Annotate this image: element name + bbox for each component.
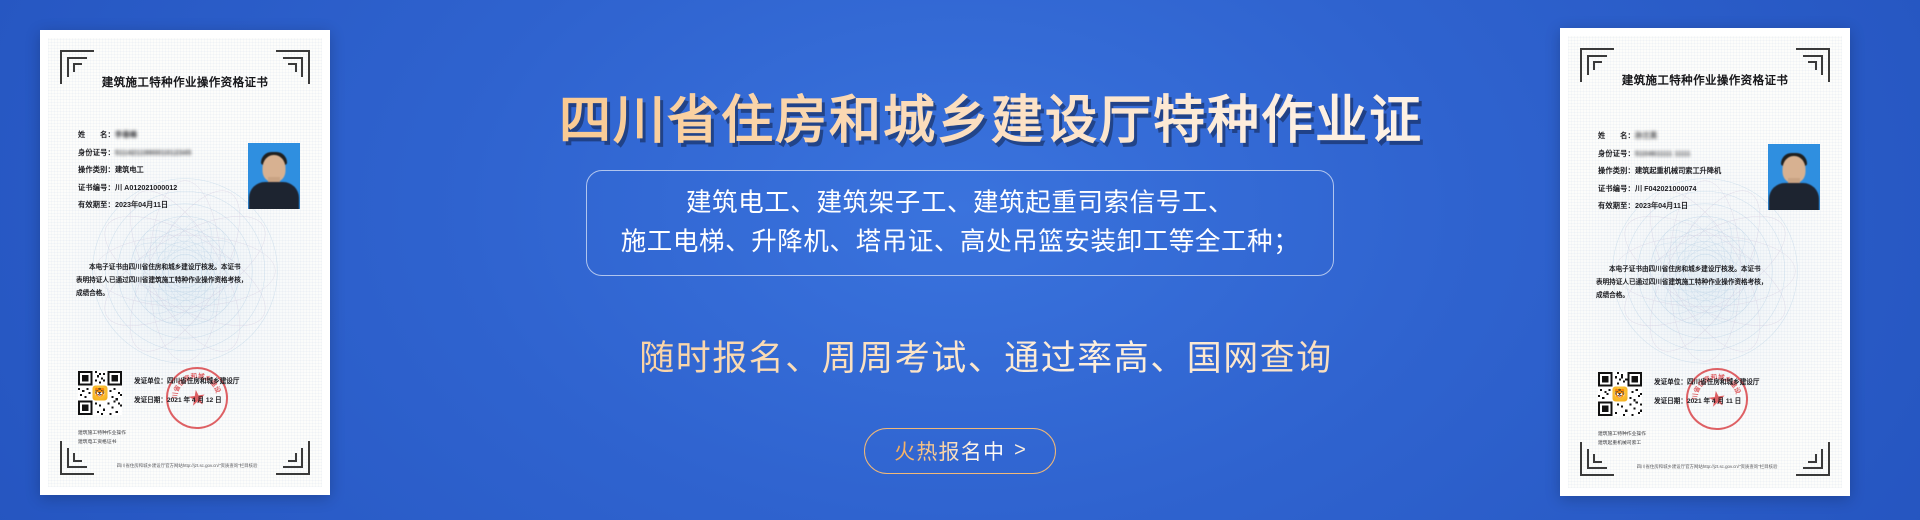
note-line-1: 建筑施工特种作业操作 (78, 429, 126, 438)
field-certificate-number: 证书编号：川 A012021000012 (78, 183, 258, 192)
field-operation-type-label: 操作类别： (78, 165, 115, 174)
field-valid-until: 有效期至：2023年04月11日 (1598, 201, 1778, 210)
qr-center-emoji-icon: 🐯 (1612, 386, 1629, 403)
certificate-title: 建筑施工特种作业操作资格证书 (1568, 72, 1842, 88)
body-paragraph-1: 本电子证书由四川省住房和城乡建设厅核发。本证书 (1596, 264, 1816, 277)
field-certificate-number-value: 川 F042021000074 (1635, 184, 1697, 193)
course-line-2: 施工电梯、升降机、塔吊证、高处吊篮安装卸工等全工种； (621, 227, 1300, 258)
certificate-body-text: 本电子证书由四川省住房和城乡建设厅核发。本证书 表明持证人已通过四川省建筑施工特… (1596, 264, 1816, 303)
issue-date-line: 发证日期：2021 年 4 月 12 日 (134, 394, 302, 404)
certificate-footer: 四川省住房和城乡建设厅官方网站http://jzt.sc.gov.cn/"资质查… (1591, 464, 1823, 470)
field-operation-type-value: 建筑电工 (115, 165, 144, 174)
corner-ornament-icon (276, 441, 310, 475)
course-line-1: 建筑电工、建筑架子工、建筑起重司索信号工、 (686, 188, 1234, 219)
certificate-footer: 四川省住房和城乡建设厅官方网站http://jzt.sc.gov.cn/"资质查… (71, 463, 303, 469)
chevron-right-icon: > (1014, 440, 1026, 460)
certificate-note: 建筑施工特种作业操作 建筑起重机械司索工 (1598, 430, 1646, 448)
promo-banner: 建筑施工特种作业操作资格证书 姓 名：李春峰 身份证号：511421199001… (0, 0, 1920, 520)
field-id-number: 身份证号：510461111 1111 (1598, 149, 1778, 158)
field-id-number-label: 身份证号： (1598, 149, 1635, 158)
field-valid-until-label: 有效期至： (78, 200, 115, 209)
field-certificate-number-value: 川 A012021000012 (115, 183, 177, 192)
field-certificate-number-label: 证书编号： (1598, 184, 1635, 193)
field-valid-until-value: 2023年04月11日 (1635, 201, 1688, 210)
issuer-label: 发证单位： (1654, 379, 1687, 386)
enroll-button[interactable]: 火热报名中 > (864, 428, 1056, 474)
certificate-issue-block: 发证单位：四川省住房和城乡建设厅 发证日期：2021 年 4 月 11 日 (1654, 376, 1822, 414)
field-name-value: 孙兰英 (1635, 131, 1657, 140)
body-paragraph-3: 成绩合格。 (76, 288, 296, 301)
field-certificate-number-label: 证书编号： (78, 183, 115, 192)
qr-center-emoji-icon: 🐯 (92, 385, 109, 402)
body-paragraph-1: 本电子证书由四川省住房和城乡建设厅核发。本证书 (76, 262, 296, 275)
field-id-number-value: 510461111 1111 (1635, 149, 1691, 158)
qr-code-icon: 🐯 (1598, 372, 1642, 416)
note-line-2: 建筑电工资格证书 (78, 438, 126, 447)
field-valid-until: 有效期至：2023年04月11日 (78, 200, 258, 209)
field-valid-until-label: 有效期至： (1598, 201, 1635, 210)
certificate-field-list: 姓 名：孙兰英 身份证号：510461111 1111 操作类别：建筑起重机械司… (1598, 131, 1778, 219)
certificate-photo (1768, 144, 1820, 210)
photo-blur-overlay (1768, 144, 1820, 210)
field-name: 姓 名：孙兰英 (1598, 131, 1778, 140)
certificate-card-right: 建筑施工特种作业操作资格证书 姓 名：孙兰英 身份证号：510461111 11… (1560, 28, 1850, 496)
field-valid-until-value: 2023年04月11日 (115, 200, 168, 209)
field-operation-type-value: 建筑起重机械司索工升降机 (1635, 166, 1721, 175)
issue-date-line: 发证日期：2021 年 4 月 11 日 (1654, 395, 1822, 405)
field-name-label: 姓 名： (1598, 131, 1635, 140)
body-paragraph-2: 表明持证人已通过四川省建筑施工特种作业操作资格考核， (76, 275, 296, 288)
issuer-line: 发证单位：四川省住房和城乡建设厅 (1654, 376, 1822, 386)
corner-ornament-icon (1796, 442, 1830, 476)
certificate-inner-right: 建筑施工特种作业操作资格证书 姓 名：孙兰英 身份证号：510461111 11… (1568, 36, 1842, 488)
body-paragraph-2: 表明持证人已通过四川省建筑施工特种作业操作资格考核， (1596, 277, 1816, 290)
note-line-1: 建筑施工特种作业操作 (1598, 430, 1646, 439)
issue-date-value: 2021 年 4 月 11 日 (1687, 398, 1741, 405)
issue-date-label: 发证日期： (134, 397, 167, 404)
certificate-note: 建筑施工特种作业操作 建筑电工资格证书 (78, 429, 126, 447)
body-paragraph-3: 成绩合格。 (1596, 290, 1816, 303)
field-operation-type-label: 操作类别： (1598, 166, 1635, 175)
note-line-2: 建筑起重机械司索工 (1598, 439, 1646, 448)
field-operation-type: 操作类别：建筑电工 (78, 165, 258, 174)
enroll-button-label: 火热报名中 (894, 436, 1005, 466)
field-operation-type: 操作类别：建筑起重机械司索工升降机 (1598, 166, 1778, 175)
issuer-value: 四川省住房和城乡建设厅 (1687, 379, 1760, 386)
course-list-box: 建筑电工、建筑架子工、建筑起重司索信号工、 施工电梯、升降机、塔吊证、高处吊篮安… (586, 170, 1334, 276)
issue-date-value: 2021 年 4 月 12 日 (167, 397, 222, 404)
field-certificate-number: 证书编号：川 F042021000074 (1598, 184, 1778, 193)
certificate-body-text: 本电子证书由四川省住房和城乡建设厅核发。本证书 表明持证人已通过四川省建筑施工特… (76, 262, 296, 301)
issue-date-label: 发证日期： (1654, 398, 1687, 405)
